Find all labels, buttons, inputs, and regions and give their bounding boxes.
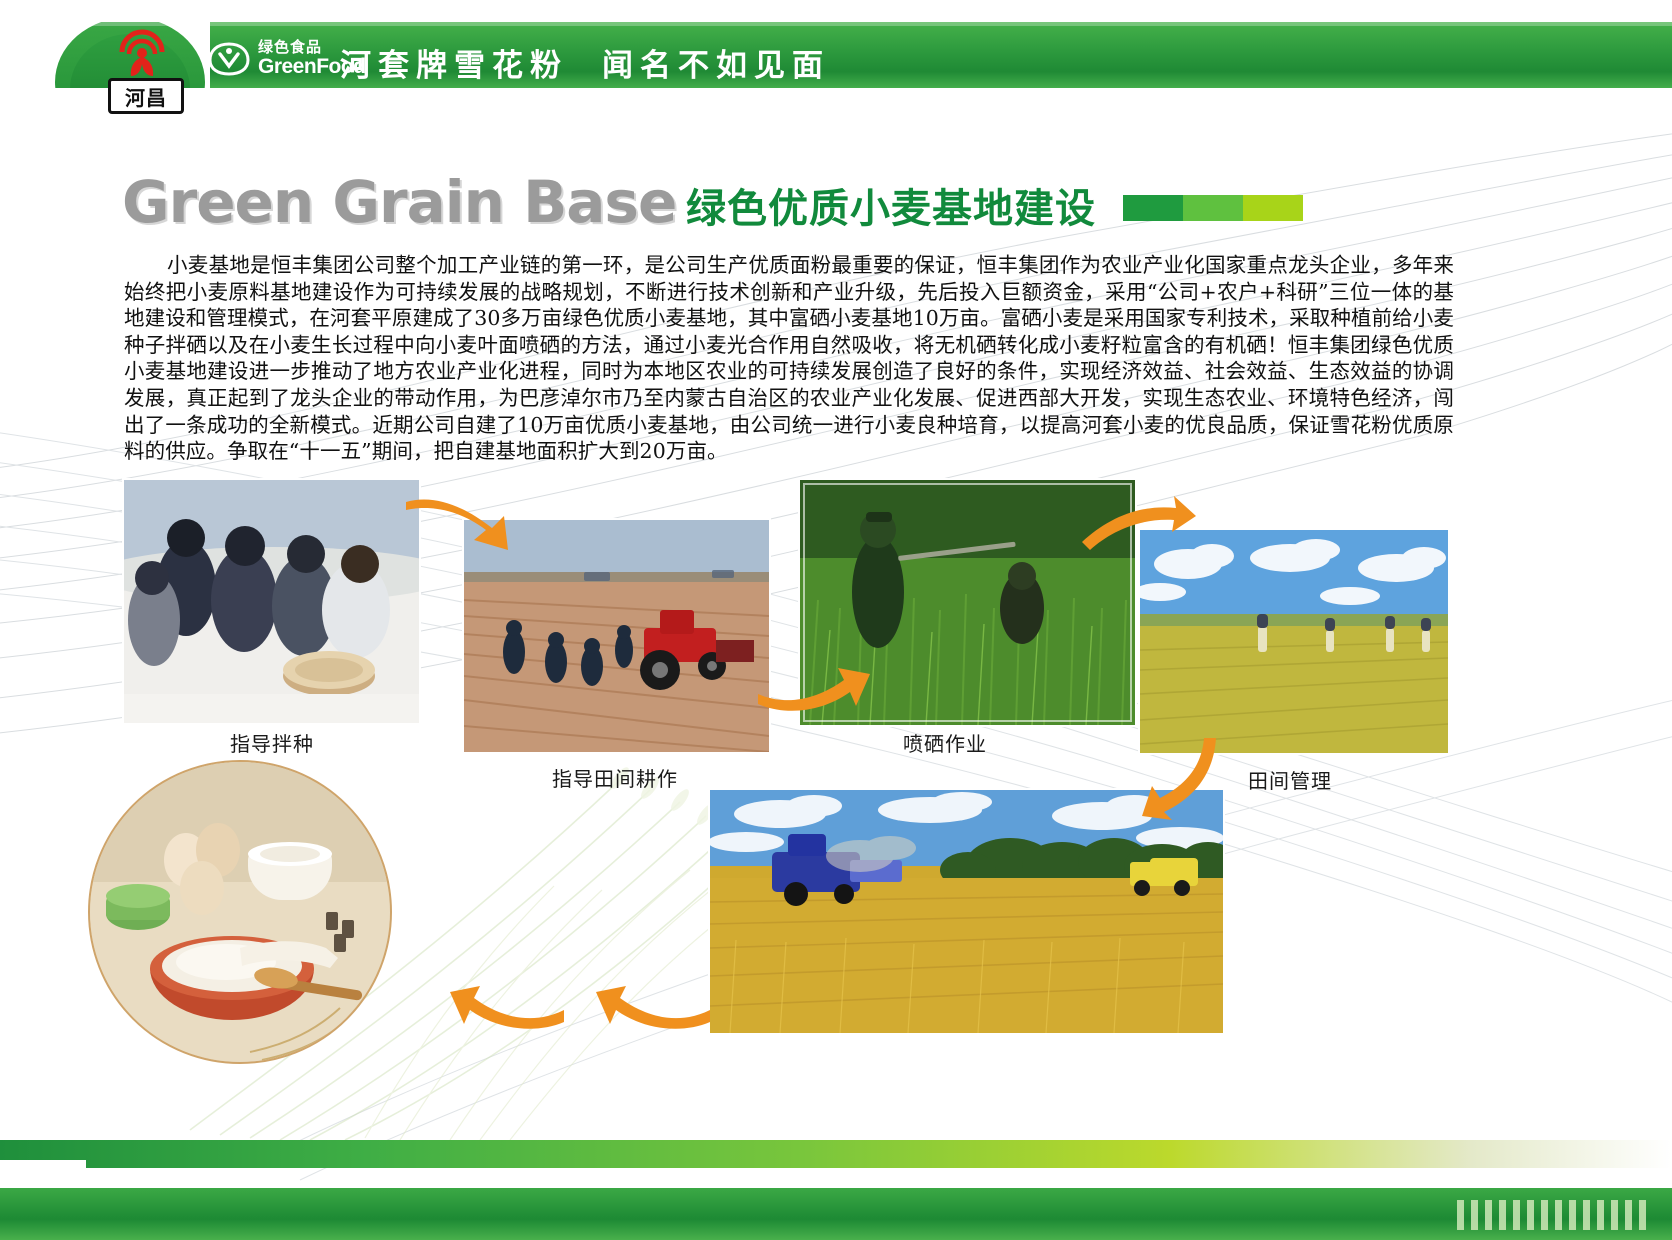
company-logo[interactable]: 河昌 <box>96 26 188 112</box>
photo-field-tillage-art <box>464 520 769 752</box>
photo-flour-still-life-art <box>90 762 390 1062</box>
flow-arrow-6-icon <box>596 976 716 1038</box>
photo-seed-mixing[interactable] <box>122 478 421 725</box>
photo-flour-still-life[interactable] <box>88 760 392 1064</box>
title-color-bars <box>1123 195 1303 221</box>
header-slogan-part1: 河套牌雪花粉 <box>340 48 568 84</box>
photo-field-management-art <box>1140 530 1448 753</box>
header-slogan: 河套牌雪花粉闻名不如见面 <box>340 40 830 85</box>
photo-caption-field-management: 田间管理 <box>1248 765 1332 794</box>
header-slogan-part2: 闻名不如见面 <box>602 48 830 84</box>
title-bar-light-green <box>1243 195 1303 221</box>
flow-arrow-2-icon <box>752 660 872 722</box>
photo-caption-field-tillage: 指导田间耕作 <box>552 763 678 792</box>
flow-arrow-5-icon <box>450 976 570 1038</box>
flow-arrow-1-icon <box>400 492 520 554</box>
bottom-tick-marks <box>1457 1200 1646 1230</box>
photo-caption-selenium-spraying: 喷硒作业 <box>903 728 987 757</box>
logo-name-box: 河昌 <box>108 78 184 114</box>
page-title-chinese: 绿色优质小麦基地建设 <box>686 176 1096 234</box>
flow-arrow-4-icon <box>1140 730 1230 822</box>
greenfood-leaf-icon <box>208 42 250 76</box>
poster-page: 河昌 绿色食品 GreenFood 河套牌雪花粉闻名不如见面 Green Gra… <box>0 0 1672 1240</box>
photo-wheat-harvest[interactable] <box>708 788 1225 1035</box>
body-paragraph: 小麦基地是恒丰集团公司整个加工产业链的第一环，是公司生产优质面粉最重要的保证，恒… <box>124 252 1454 465</box>
bottom-gradient-band <box>0 1140 1672 1168</box>
photo-wheat-harvest-art <box>710 790 1223 1033</box>
photo-field-management[interactable] <box>1138 528 1450 755</box>
flow-arrow-3-icon <box>1076 496 1196 558</box>
title-bar-mid-green <box>1183 195 1243 221</box>
logo-leaf-icon <box>110 26 174 82</box>
photo-seed-mixing-art <box>124 480 419 723</box>
bottom-green-bar <box>0 1188 1672 1240</box>
bottom-left-white-block <box>0 1160 86 1188</box>
page-title-english: Green Grain Base <box>122 168 676 236</box>
title-bar-dark-green <box>1123 195 1183 221</box>
photo-caption-seed-mixing: 指导拌种 <box>230 728 314 757</box>
